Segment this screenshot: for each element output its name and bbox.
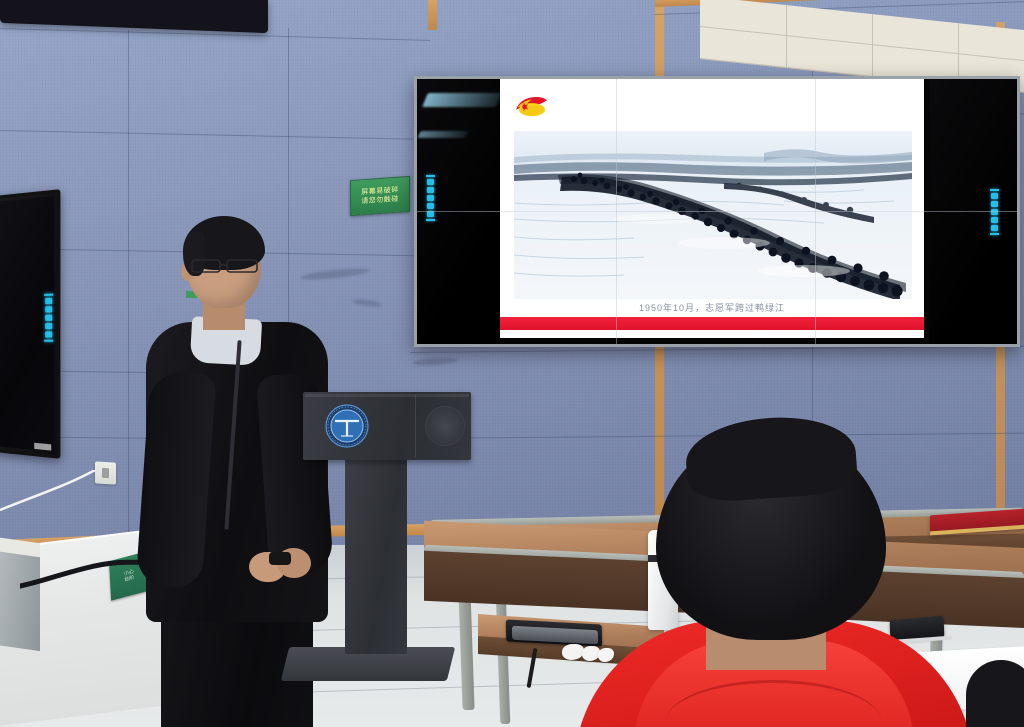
home-icon[interactable] [427,195,434,201]
screen-reflection [418,131,469,138]
communist-youth-league-emblem [512,91,550,119]
lectern-top-panel [303,392,471,460]
home-icon[interactable] [45,315,52,321]
power-icon[interactable] [990,233,999,235]
settings-icon[interactable] [45,331,52,337]
back-icon[interactable] [45,323,52,329]
power-icon[interactable] [426,219,435,221]
slide-caption: 1950年10月，志愿军跨过鸭绿江 [500,301,924,314]
display-icon[interactable] [427,187,434,193]
glasses-icon [191,258,261,273]
lectern-panel-divider [415,395,416,457]
lectern-column [345,458,407,654]
video-wall-seam [417,211,1017,212]
student-foreground [556,430,976,727]
warning-line-2: 请您勿触碰 [361,195,399,207]
lectern-highlight [305,394,469,397]
video-wall[interactable]: 1950年10月，志愿军跨过鸭绿江 [414,76,1020,347]
home-icon[interactable] [991,209,998,215]
video-wall-osd-left[interactable] [426,175,435,221]
slide-accent-band [500,317,924,330]
back-icon[interactable] [991,217,998,223]
wall-seam [128,30,129,540]
wall-monitor-left[interactable] [0,189,60,459]
screen-fragile-warning-sign: 屏幕易破碎 请您勿触碰 [350,176,410,216]
display-icon[interactable] [991,201,998,207]
classroom-scene: 屏幕易破碎 请您勿触碰 [0,0,1024,727]
monitor-osd-icons[interactable] [44,294,53,342]
presenter-clicker[interactable] [269,552,291,565]
wall-trim-vertical [428,0,437,30]
power-icon[interactable] [44,340,53,342]
video-wall-osd-right[interactable] [990,189,999,235]
slide-photo [514,131,912,299]
menu-icon[interactable] [990,189,999,191]
back-icon[interactable] [427,203,434,209]
input-icon[interactable] [991,193,998,199]
slide-bottom-margin [500,330,924,338]
menu-icon[interactable] [44,294,53,296]
institution-emblem [325,404,369,448]
student-partial-right [966,660,1024,727]
menu-icon[interactable] [426,175,435,177]
presentation-slide: 1950年10月，志愿军跨过鸭绿江 [500,79,924,338]
video-wall-screen: 1950年10月，志愿军跨过鸭绿江 [417,79,1017,344]
display-icon[interactable] [45,306,52,312]
input-icon[interactable] [427,179,434,185]
settings-icon[interactable] [991,225,998,231]
speaker-grille [425,406,465,446]
input-icon[interactable] [45,298,52,304]
screen-reflection [422,93,502,107]
